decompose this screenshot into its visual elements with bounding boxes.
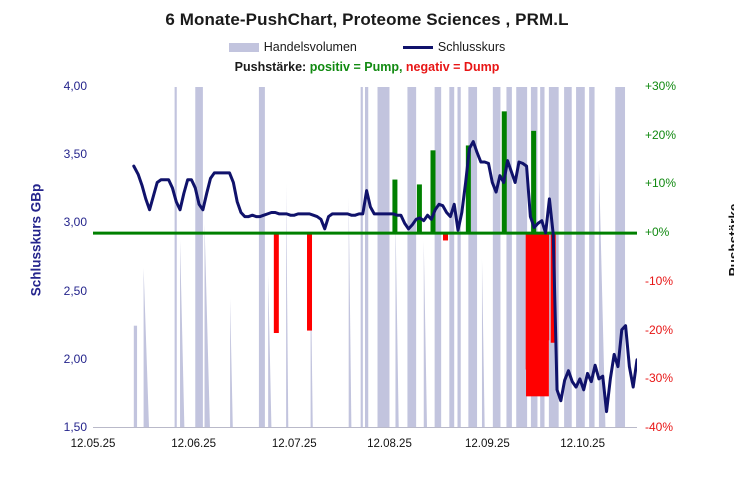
volume-bar: [286, 182, 288, 428]
volume-bar: [230, 298, 233, 428]
y-tick-left: 2,50: [41, 284, 87, 298]
x-tick: 12.08.25: [344, 438, 434, 450]
volume-bar: [259, 87, 265, 428]
chart-title: 6 Monate-PushChart, Proteome Sciences , …: [0, 10, 734, 30]
x-tick: 12.07.25: [249, 438, 339, 450]
subtitle-prefix: Pushstärke:: [235, 60, 307, 74]
volume-bar: [449, 87, 454, 428]
volume-bar: [457, 87, 460, 428]
volume-bar: [205, 223, 210, 428]
volume-bar: [468, 87, 477, 428]
dump-bar: [274, 233, 279, 333]
volume-bar: [175, 87, 177, 428]
y-tick-left: 3,50: [41, 147, 87, 161]
price-line-swatch: [403, 46, 433, 49]
y-tick-left: 3,00: [41, 215, 87, 229]
volume-bar: [180, 240, 184, 428]
volume-bar: [435, 87, 442, 428]
volume-bar: [493, 87, 501, 428]
volume-swatch: [229, 43, 259, 52]
legend-item-volume: Handelsvolumen: [229, 40, 357, 54]
subtitle-positive: positiv = Pump,: [310, 60, 403, 74]
y-axis-right-title: Pushstärke: [727, 170, 734, 310]
volume-bar: [615, 87, 625, 428]
volume-bar: [365, 87, 368, 428]
volume-bar: [378, 87, 390, 428]
plot-area: [93, 87, 637, 428]
y-tick-right: -10%: [645, 274, 697, 288]
volume-bar: [134, 326, 137, 428]
y-tick-left: 4,00: [41, 79, 87, 93]
volume-bar: [407, 87, 416, 428]
pump-bar: [392, 180, 397, 234]
y-tick-left: 2,00: [41, 352, 87, 366]
legend-label-volume: Handelsvolumen: [264, 40, 357, 54]
legend-item-price: Schlusskurs: [403, 40, 505, 54]
y-tick-right: -40%: [645, 420, 697, 434]
dump-cluster: [526, 233, 549, 396]
x-tick: 12.10.25: [538, 438, 628, 450]
y-tick-right: -30%: [645, 371, 697, 385]
volume-bar: [395, 217, 398, 428]
volume-bar: [482, 258, 485, 429]
y-tick-right: +30%: [645, 79, 697, 93]
volume-bar: [361, 87, 363, 428]
volume-bar: [424, 240, 427, 428]
push-strength-subtitle: Pushstärke: positiv = Pump, negativ = Du…: [0, 60, 734, 74]
push-chart: 6 Monate-PushChart, Proteome Sciences , …: [0, 0, 734, 480]
dump-bar: [307, 233, 312, 330]
volume-bar: [576, 87, 585, 428]
y-tick-right: +0%: [645, 225, 697, 239]
volume-bar: [144, 268, 149, 428]
y-tick-left: 1,50: [41, 420, 87, 434]
x-tick: 12.05.25: [48, 438, 138, 450]
volume-bar: [268, 275, 271, 428]
x-tick: 12.09.25: [442, 438, 532, 450]
y-tick-right: -20%: [645, 323, 697, 337]
volume-bar: [349, 196, 352, 428]
legend-label-price: Schlusskurs: [438, 40, 505, 54]
volume-bar: [506, 87, 511, 428]
plot-svg: [93, 87, 637, 428]
subtitle-negative: negativ = Dump: [406, 60, 499, 74]
x-tick: 12.06.25: [149, 438, 239, 450]
y-tick-right: +10%: [645, 176, 697, 190]
volume-bar: [516, 87, 527, 428]
y-tick-right: +20%: [645, 128, 697, 142]
chart-legend: Handelsvolumen Schlusskurs: [0, 40, 734, 54]
pump-bar: [417, 184, 422, 233]
volume-bar: [195, 87, 203, 428]
